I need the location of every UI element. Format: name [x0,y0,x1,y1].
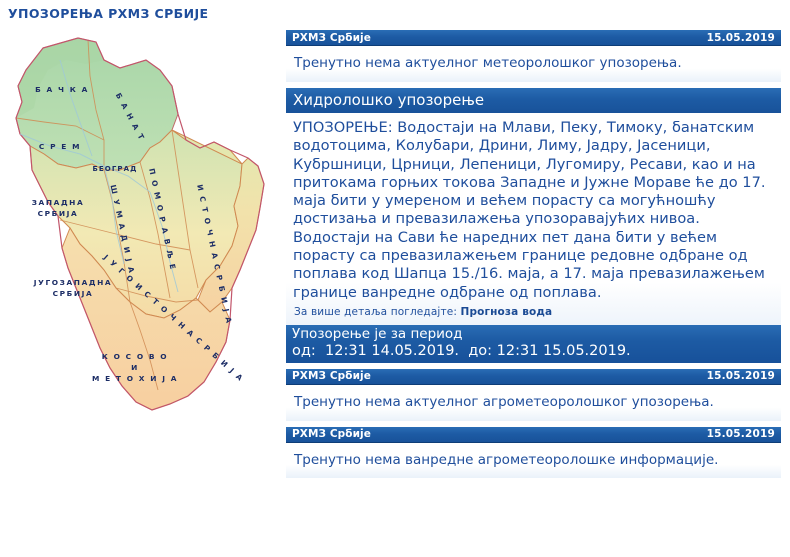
hydro-more-details: За више детаља погледајте: Прогноза вода [293,302,774,323]
agro-info-date-label: 15.05.2019 [707,426,775,442]
agro-info-panel-body: Тренутно нема ванредне агрометеоролошке … [286,443,781,479]
agro-warning-panel: РХМЗ Србије 15.05.2019 Тренутно нема акт… [286,369,781,421]
hydro-warning-text: УПОЗОРЕЊЕ: Водостаји на Млави, Пеку, Тим… [293,119,774,302]
hydro-period-banner: Упозорење је за период од: 12:31 14.05.2… [286,325,781,363]
agro-info-panel: РХМЗ Србије 15.05.2019 Тренутно нема ван… [286,427,781,479]
period-range: од: 12:31 14.05.2019. до: 12:31 15.05.20… [292,343,775,360]
map-svg: Б А Ч К А Б А Н А Т С Р Е М БЕОГРАД ЗАПА… [0,30,285,422]
more-details-lead: За више детаља погледајте: [294,306,461,318]
agro-message: Тренутно нема актуелног агрометеоролошко… [294,394,773,411]
serbia-regions-map: Б А Ч К А Б А Н А Т С Р Е М БЕОГРАД ЗАПА… [0,30,285,422]
hydro-panel-body: УПОЗОРЕЊЕ: Водостаји на Млави, Пеку, Тим… [286,113,781,325]
warnings-panel-column: РХМЗ Србије 15.05.2019 Тренутно нема акт… [286,30,781,484]
period-title: Упозорење је за период [292,327,775,343]
forecast-water-link[interactable]: Прогноза вода [461,306,553,318]
agro-info-message: Тренутно нема ванредне агрометеоролошке … [294,452,773,469]
meteo-panel-header: РХМЗ Србије 15.05.2019 [286,30,781,46]
hydro-panel-header: Хидролошко упозорење [286,88,781,113]
agro-date-label: 15.05.2019 [707,368,775,384]
agro-info-source-label: РХМЗ Србије [292,426,371,442]
agro-info-panel-header: РХМЗ Србије 15.05.2019 [286,427,781,443]
page-title: УПОЗОРЕЊА РХМЗ СРБИЈЕ [8,6,208,21]
meteo-message: Тренутно нема актуелног метеоролошког уп… [294,55,773,72]
meteo-warning-panel: РХМЗ Србије 15.05.2019 Тренутно нема акт… [286,30,781,82]
agro-panel-body: Тренутно нема актуелног агрометеоролошко… [286,385,781,421]
meteo-date-label: 15.05.2019 [707,30,775,46]
hydro-warning-panel: Хидролошко упозорење УПОЗОРЕЊЕ: Водостај… [286,88,781,363]
agro-source-label: РХМЗ Србије [292,368,371,384]
meteo-panel-body: Тренутно нема актуелног метеоролошког уп… [286,46,781,82]
agro-panel-header: РХМЗ Србије 15.05.2019 [286,369,781,385]
meteo-source-label: РХМЗ Србије [292,30,371,46]
